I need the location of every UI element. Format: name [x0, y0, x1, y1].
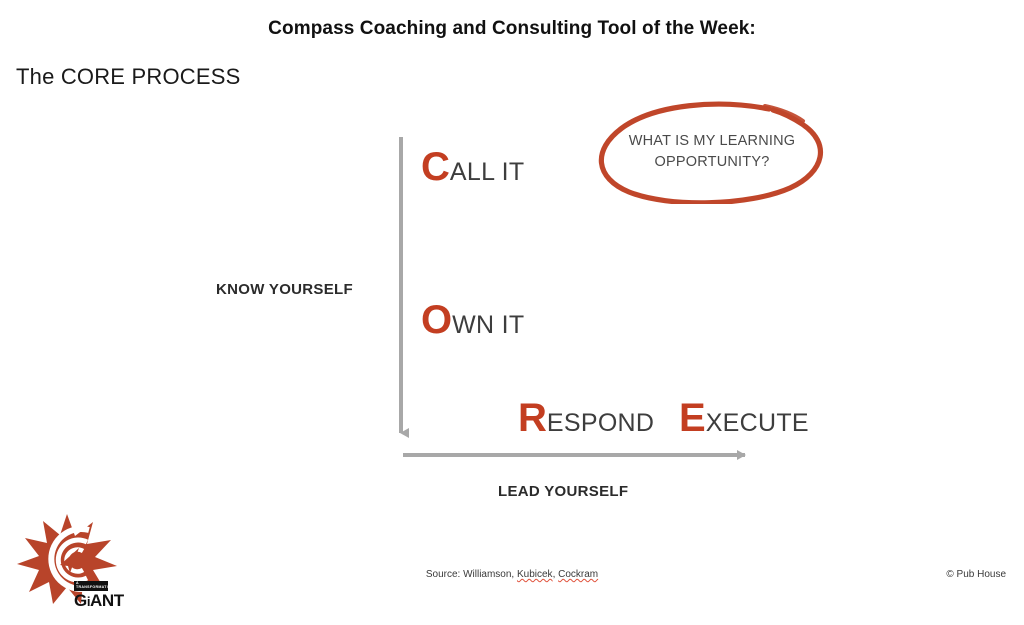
annotation-text: WHAT IS MY LEARNING OPPORTUNITY?: [615, 131, 809, 173]
step-own-it-capital: O: [421, 298, 452, 342]
source-author-cockram: Cockram: [558, 569, 598, 580]
axis-label-lead-yourself: LEAD YOURSELF: [498, 483, 628, 500]
step-execute: EXECUTE: [679, 398, 809, 438]
page-subtitle: The CORE PROCESS: [16, 64, 240, 90]
copyright-notice: © Pub House: [946, 569, 1006, 580]
logo-tagline: A TRANSFORMATION: [74, 581, 108, 591]
giant-wordmark: A TRANSFORMATION GiANT: [74, 581, 130, 609]
step-respond-label: ESPOND: [547, 409, 654, 437]
giant-logo: A TRANSFORMATION GiANT: [17, 512, 121, 616]
step-own-it: OWN IT: [421, 300, 524, 340]
annotation-line-2: OPPORTUNITY?: [655, 154, 770, 170]
source-prefix: Source: Williamson,: [426, 569, 517, 580]
annotation-line-1: WHAT IS MY LEARNING: [629, 133, 796, 149]
step-call-it-capital: C: [421, 145, 450, 189]
logo-name: GiANT: [74, 592, 130, 609]
logo-name-ant: ANT: [90, 591, 124, 610]
step-respond: RESPOND: [518, 398, 654, 438]
axis-label-know-yourself: KNOW YOURSELF: [216, 281, 353, 298]
annotation-callout: WHAT IS MY LEARNING OPPORTUNITY?: [597, 100, 827, 204]
step-call-it-label: ALL IT: [450, 158, 525, 186]
step-respond-capital: R: [518, 396, 547, 440]
page-title: Compass Coaching and Consulting Tool of …: [0, 18, 1024, 40]
source-author-kubicek: Kubicek: [517, 569, 553, 580]
step-own-it-label: WN IT: [452, 311, 524, 339]
step-call-it: CALL IT: [421, 147, 524, 187]
step-execute-capital: E: [679, 396, 706, 440]
source-citation: Source: Williamson, Kubicek, Cockram: [0, 569, 1024, 580]
slide-canvas: Compass Coaching and Consulting Tool of …: [0, 0, 1024, 625]
logo-name-g: G: [74, 591, 87, 610]
step-execute-label: XECUTE: [706, 409, 809, 437]
